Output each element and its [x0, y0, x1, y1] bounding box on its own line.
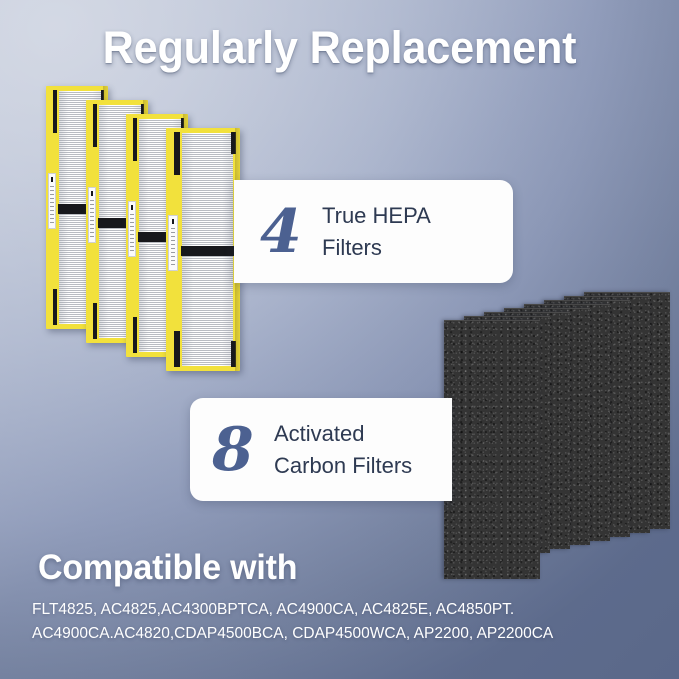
hepa-tag-lines	[130, 214, 134, 252]
hepa-crossbar	[181, 246, 239, 256]
hepa-tag-dot	[51, 177, 53, 182]
carbon-card-label: Activated Carbon Filters	[266, 418, 412, 482]
compatible-models-line2: AC4900CA.AC4820,CDAP4500BCA, CDAP4500WCA…	[32, 622, 553, 646]
hepa-label-tag	[168, 215, 178, 271]
callout-card-carbon: 8 Activated Carbon Filters	[190, 398, 452, 501]
carbon-count-number: 8	[212, 420, 266, 480]
hepa-bar-bottom	[53, 289, 58, 325]
compatible-heading: Compatible with	[38, 548, 297, 588]
hepa-bar-bottom	[133, 317, 138, 353]
page-title: Regularly Replacement	[14, 22, 666, 74]
carbon-filter-stack	[444, 292, 679, 554]
hepa-tag-lines	[50, 186, 54, 224]
hepa-filter-4	[166, 128, 240, 371]
compatible-model-list: FLT4825, AC4825,AC4300BPTCA, AC4900CA, A…	[32, 598, 553, 646]
compatible-models-line1: FLT4825, AC4825,AC4300BPTCA, AC4900CA, A…	[32, 598, 553, 622]
carbon-filter-1	[444, 320, 540, 579]
hepa-label-tag	[128, 201, 136, 257]
hepa-label-tag	[88, 187, 96, 243]
hepa-bar-top	[53, 90, 58, 134]
hepa-filter-stack	[46, 86, 266, 376]
carbon-label-line2: Carbon Filters	[274, 450, 412, 482]
hepa-count-number: 4	[260, 202, 314, 262]
hepa-label-line2: Filters	[322, 232, 431, 264]
hepa-bar-top	[93, 104, 98, 148]
hepa-tag-lines	[90, 200, 94, 238]
hepa-tag-dot	[172, 219, 175, 224]
hepa-bar-bottom	[93, 303, 98, 339]
hepa-bar-top	[133, 118, 138, 162]
hepa-tag-dot	[131, 205, 133, 210]
hepa-tag-dot	[91, 191, 93, 196]
hepa-label-tag	[48, 173, 56, 229]
hepa-tag-lines	[171, 228, 176, 266]
carbon-label-line1: Activated	[274, 421, 365, 446]
hepa-bar-top	[174, 132, 180, 176]
product-infographic: Regularly Replacement	[0, 0, 679, 679]
hepa-bar-bottom	[174, 331, 180, 367]
callout-card-hepa: 4 True HEPA Filters	[234, 180, 513, 283]
hepa-label-line1: True HEPA	[322, 203, 431, 228]
hepa-card-label: True HEPA Filters	[314, 200, 431, 264]
